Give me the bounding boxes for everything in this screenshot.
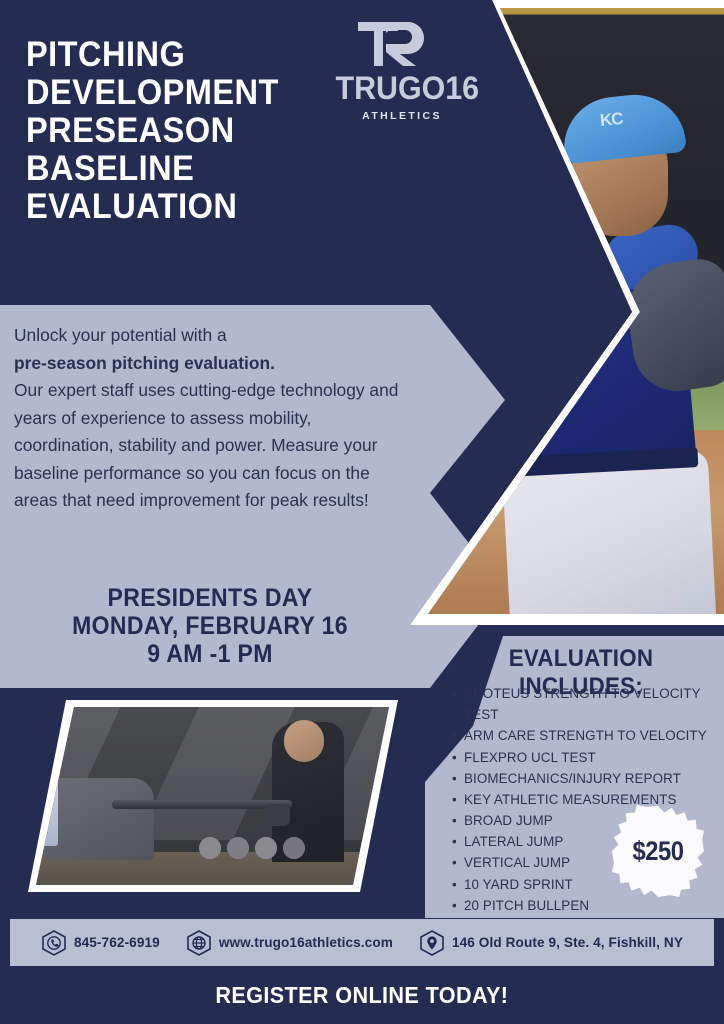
contact-website[interactable]: www.trugo16athletics.com (186, 930, 393, 956)
list-item: FLEXPRO UCL TEST (452, 747, 724, 768)
title-line-4: BASELINE (26, 152, 277, 186)
address-text: 146 Old Route 9, Ste. 4, Fishkill, NY (452, 935, 683, 950)
event-holiday: PRESIDENTS DAY (54, 584, 367, 612)
page-title: PITCHING DEVELOPMENT PRESEASON BASELINE … (26, 38, 277, 228)
title-line-2: DEVELOPMENT (26, 76, 277, 110)
proteus-machine (44, 778, 154, 860)
list-item: PROTEUS STRENGTH TO VELOCITY TEST (452, 683, 724, 725)
title-line-3: PRESEASON (26, 114, 277, 148)
flyer-canvas: KC AS CITY 75 PITCHING DEVELOPMENT PRESE… (0, 0, 724, 1024)
gym-photo (28, 700, 398, 892)
register-cta-bar[interactable]: REGISTER ONLINE TODAY! (0, 966, 724, 1024)
brand-logo: TRUGO16 ATHLETICS (332, 18, 472, 122)
contact-address[interactable]: 146 Old Route 9, Ste. 4, Fishkill, NY (419, 930, 683, 956)
body-paragraph: Our expert staff uses cutting-edge techn… (14, 380, 398, 510)
logo-subtitle: ATHLETICS (332, 110, 472, 122)
pitcher-arm (494, 151, 581, 287)
title-line-5: EVALUATION (26, 190, 277, 224)
contact-phone[interactable]: 845-762-6919 (41, 930, 160, 956)
cap-logo-text: KC (599, 109, 624, 131)
location-pin-icon (419, 930, 445, 956)
machine-handle (264, 804, 290, 826)
baseball-icon (508, 128, 544, 164)
gym-photo-clip (28, 700, 398, 892)
contact-bar: 845-762-6919 www.trugo16athletics.com (10, 919, 714, 966)
pitcher-pants (502, 450, 717, 625)
price-value: $250 (618, 805, 699, 897)
list-item: 20 PITCH BULLPEN (452, 895, 724, 916)
globe-icon (186, 930, 212, 956)
list-item: BIOMECHANICS/INJURY REPORT (452, 768, 724, 789)
kettlebells (196, 830, 326, 860)
title-line-1: PITCHING (26, 38, 277, 72)
event-date: MONDAY, FEBRUARY 16 (54, 612, 367, 640)
gym-athlete-head (284, 720, 324, 762)
body-copy: Unlock your potential with a pre-season … (14, 322, 414, 515)
list-item: ARM CARE STRENGTH TO VELOCITY (452, 725, 724, 746)
website-text: www.trugo16athletics.com (219, 935, 393, 950)
body-intro: Unlock your potential with a (14, 325, 227, 345)
jersey-number-text: 75 (540, 328, 595, 380)
event-time: 9 AM -1 PM (54, 640, 367, 668)
phone-text: 845-762-6919 (74, 935, 160, 950)
phone-icon (41, 930, 67, 956)
body-emphasis: pre-season pitching evaluation. (14, 353, 275, 373)
price-badge: $250 (612, 805, 704, 897)
register-cta-text: REGISTER ONLINE TODAY! (216, 982, 509, 1009)
tr-monogram-icon (332, 18, 472, 70)
logo-wordmark: TRUGO16 (336, 72, 469, 104)
event-date-block: PRESIDENTS DAY MONDAY, FEBRUARY 16 9 AM … (40, 584, 380, 668)
